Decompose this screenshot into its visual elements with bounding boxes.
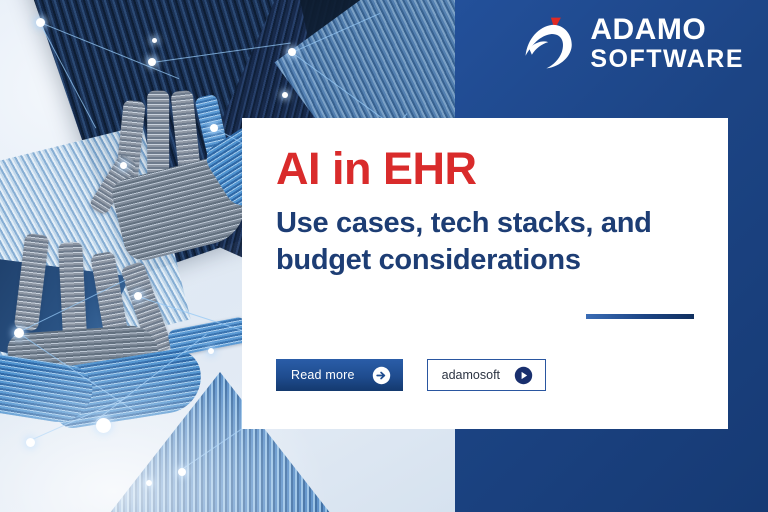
- marketing-banner: ADAMO SOFTWARE AI in EHR Use cases, tech…: [0, 0, 768, 512]
- adamo-software-logo[interactable]: ADAMO SOFTWARE: [521, 14, 744, 72]
- logo-word-software: SOFTWARE: [590, 47, 744, 72]
- read-more-button[interactable]: Read more: [276, 359, 403, 391]
- arrow-right-circle-icon: [372, 366, 391, 385]
- adamosoft-button[interactable]: adamosoft: [427, 359, 546, 391]
- divider-wrap: [586, 314, 694, 319]
- content-card: AI in EHR Use cases, tech stacks, and bu…: [242, 118, 728, 429]
- adamo-swoosh-logo-icon: [521, 14, 579, 72]
- divider-rule: [586, 314, 694, 319]
- logo-wordmark: ADAMO SOFTWARE: [590, 15, 744, 72]
- play-circle-icon: [514, 366, 533, 385]
- logo-word-adamo: ADAMO: [590, 15, 744, 45]
- read-more-label: Read more: [291, 368, 355, 382]
- page-subtitle: Use cases, tech stacks, and budget consi…: [276, 205, 694, 279]
- card-actions: Read more adamosoft: [276, 359, 546, 391]
- adamosoft-label: adamosoft: [442, 368, 500, 382]
- page-title: AI in EHR: [276, 146, 694, 191]
